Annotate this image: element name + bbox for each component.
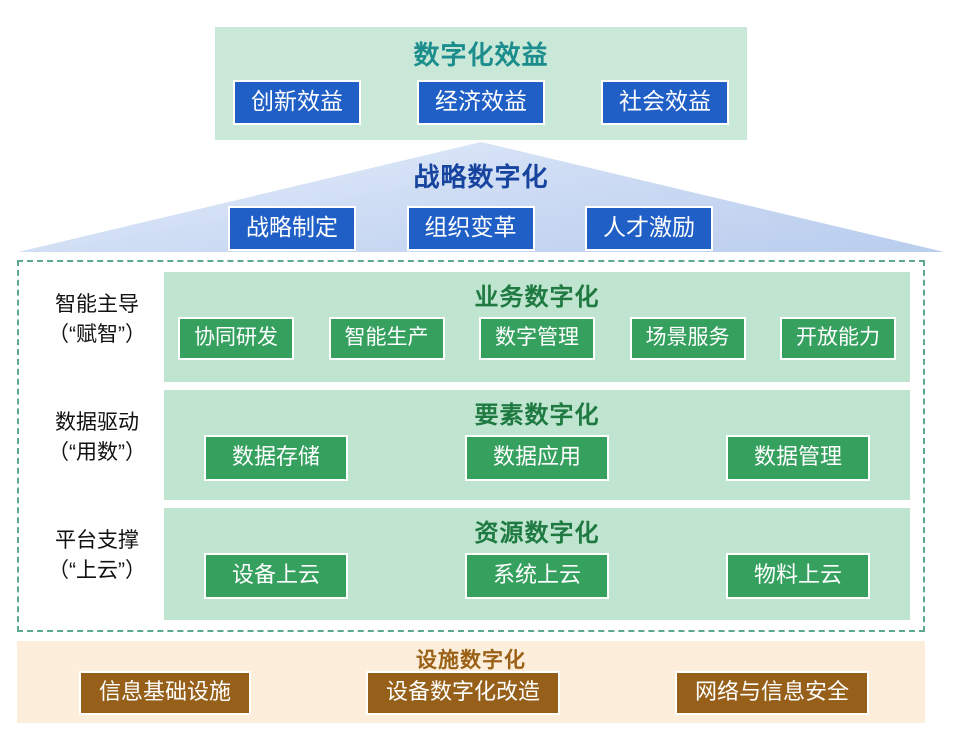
- core-panel-title-elements: 要素数字化: [164, 395, 910, 430]
- core-chip-data-storage[interactable]: 数据存储: [204, 435, 348, 481]
- infra-chip-it-infrastructure[interactable]: 信息基础设施: [79, 671, 251, 715]
- core-row-label-main-business: 智能主导: [55, 293, 139, 316]
- infrastructure-item-list: 信息基础设施 设备数字化改造 网络与信息安全: [79, 671, 869, 715]
- core-panel-item-list-elements: 数据存储 数据应用 数据管理: [204, 435, 870, 481]
- core-panel-item-list-resources: 设备上云 系统上云 物料上云: [204, 553, 870, 599]
- core-panel-business: 业务数字化 协同研发 智能生产 数字管理 场景服务 开放能力: [164, 272, 910, 382]
- core-chip-scenario-service[interactable]: 场景服务: [630, 317, 746, 360]
- core-panel-resources: 资源数字化 设备上云 系统上云 物料上云: [164, 508, 910, 620]
- strategy-item-list: 战略制定 组织变革 人才激励: [228, 206, 713, 251]
- benefit-chip-economic[interactable]: 经济效益: [417, 80, 545, 125]
- core-chip-equipment-cloud[interactable]: 设备上云: [204, 553, 348, 599]
- core-panel-item-list-business: 协同研发 智能生产 数字管理 场景服务 开放能力: [178, 317, 896, 360]
- core-chip-digital-management[interactable]: 数字管理: [479, 317, 595, 360]
- infra-chip-network-security[interactable]: 网络与信息安全: [675, 671, 869, 715]
- benefit-chip-social[interactable]: 社会效益: [601, 80, 729, 125]
- core-row-business: 智能主导 （“赋智”） 业务数字化 协同研发 智能生产 数字管理 场景服务 开放…: [19, 272, 927, 382]
- core-row-elements: 数据驱动 （“用数”） 要素数字化 数据存储 数据应用 数据管理: [19, 390, 927, 500]
- core-row-label-main-elements: 数据驱动: [55, 411, 139, 434]
- core-chip-material-cloud[interactable]: 物料上云: [726, 553, 870, 599]
- core-panel-elements: 要素数字化 数据存储 数据应用 数据管理: [164, 390, 910, 500]
- benefit-chip-innovation[interactable]: 创新效益: [233, 80, 361, 125]
- diagram-canvas: 数字化效益 创新效益 经济效益 社会效益 战略数字化 战略制定 组织变革 人才激…: [0, 0, 962, 740]
- core-chip-smart-production[interactable]: 智能生产: [329, 317, 445, 360]
- strategy-chip-talent[interactable]: 人才激励: [585, 206, 713, 251]
- infrastructure-band: 设施数字化 信息基础设施 设备数字化改造 网络与信息安全: [17, 641, 925, 723]
- core-chip-data-management[interactable]: 数据管理: [726, 435, 870, 481]
- core-row-resources: 平台支撑 （“上云”） 资源数字化 设备上云 系统上云 物料上云: [19, 508, 927, 620]
- strategy-chip-org-reform[interactable]: 组织变革: [407, 206, 535, 251]
- strategy-chip-planning[interactable]: 战略制定: [228, 206, 356, 251]
- core-chip-collab-rnd[interactable]: 协同研发: [178, 317, 294, 360]
- core-panel-title-business: 业务数字化: [164, 277, 910, 312]
- core-chip-system-cloud[interactable]: 系统上云: [465, 553, 609, 599]
- core-panel-title-resources: 资源数字化: [164, 513, 910, 548]
- strategy-title: 战略数字化: [0, 157, 962, 194]
- benefit-item-list: 创新效益 经济效益 社会效益: [233, 80, 729, 125]
- core-row-label-sub-elements: （“用数”）: [27, 438, 167, 468]
- infra-chip-equipment-upgrade[interactable]: 设备数字化改造: [366, 671, 560, 715]
- infrastructure-title: 设施数字化: [17, 644, 925, 674]
- core-row-label-business: 智能主导 （“赋智”）: [27, 290, 167, 350]
- core-row-label-elements: 数据驱动 （“用数”）: [27, 408, 167, 468]
- core-row-label-sub-business: （“赋智”）: [27, 320, 167, 350]
- benefit-band: 数字化效益 创新效益 经济效益 社会效益: [215, 27, 747, 140]
- core-dashed-frame: 智能主导 （“赋智”） 业务数字化 协同研发 智能生产 数字管理 场景服务 开放…: [17, 260, 925, 632]
- core-chip-data-application[interactable]: 数据应用: [465, 435, 609, 481]
- core-chip-open-capability[interactable]: 开放能力: [780, 317, 896, 360]
- core-row-label-sub-resources: （“上云”）: [27, 556, 167, 586]
- core-row-label-resources: 平台支撑 （“上云”）: [27, 526, 167, 586]
- benefit-title: 数字化效益: [215, 35, 747, 72]
- core-row-label-main-resources: 平台支撑: [55, 529, 139, 552]
